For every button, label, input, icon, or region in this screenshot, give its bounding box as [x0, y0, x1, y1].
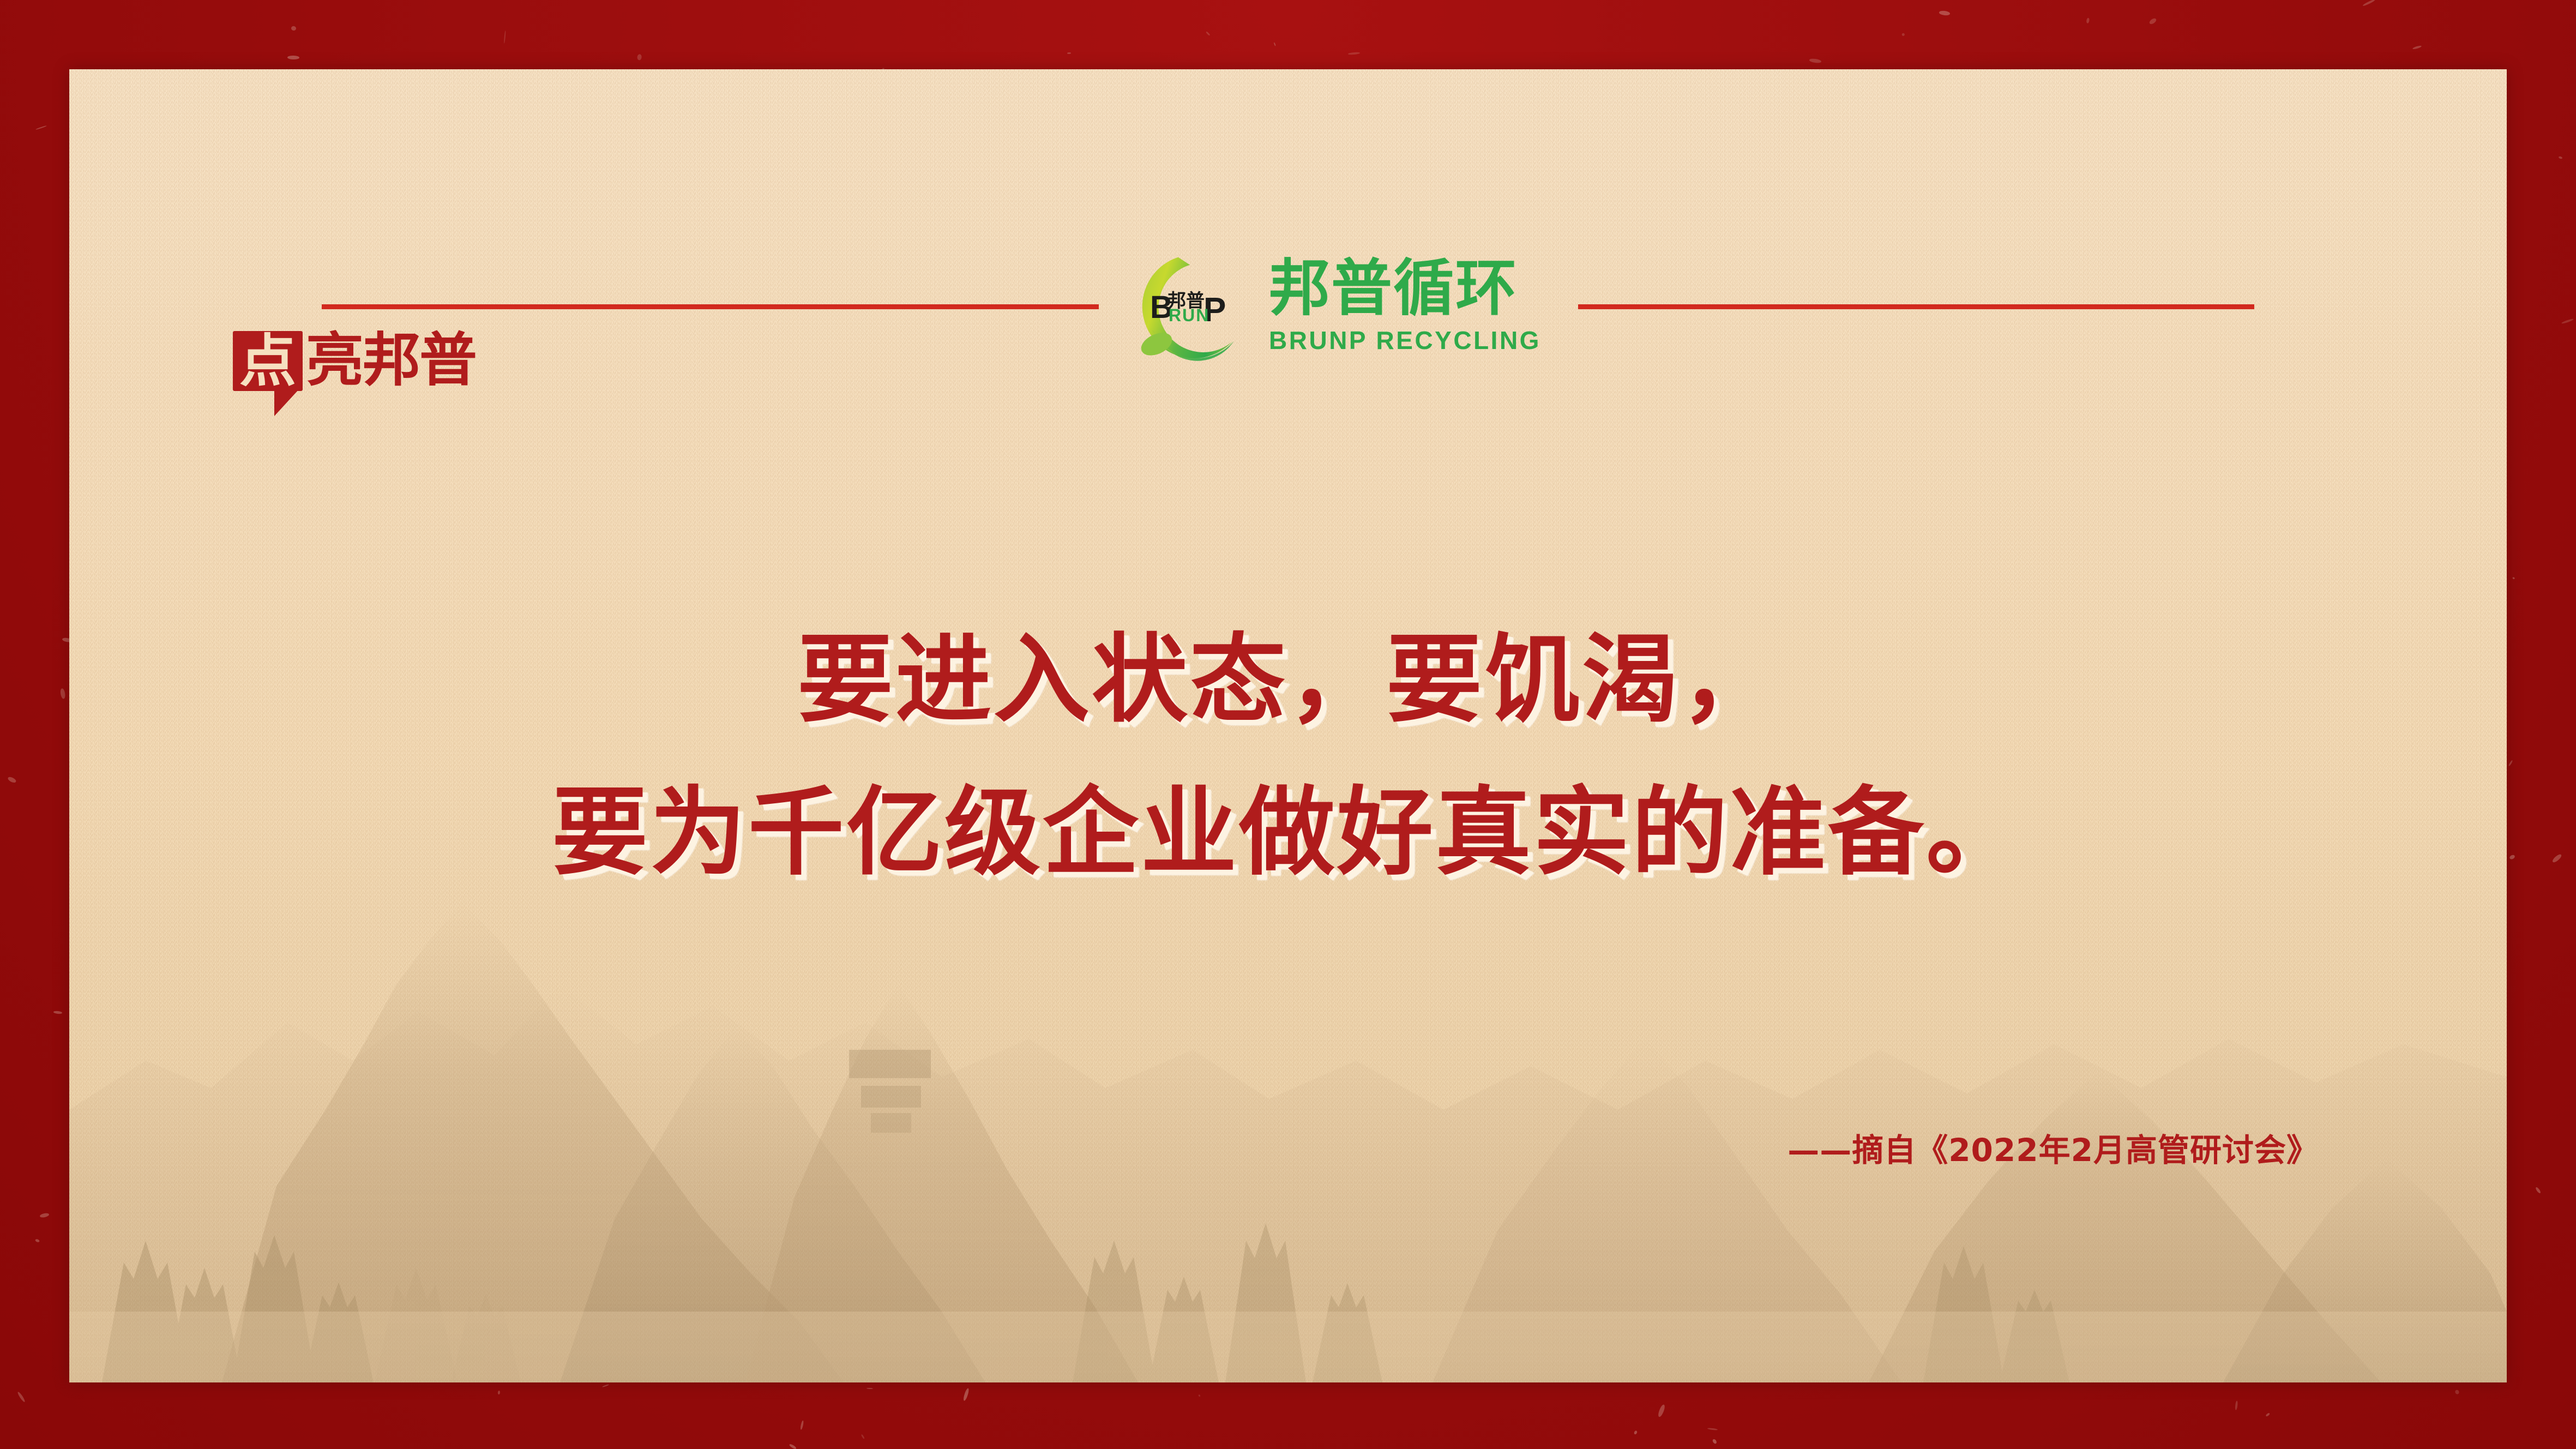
badge-label: 亮邦普 [306, 331, 476, 390]
paper-speckle [2235, 1400, 2238, 1410]
paper-speckle [1901, 33, 1905, 37]
header-rule-left [322, 304, 1099, 309]
paper-speckle [1206, 31, 1211, 35]
paper-speckle [1712, 1439, 1717, 1444]
header-rule-right [1578, 304, 2254, 309]
paper-speckle [1809, 58, 1822, 63]
quote-line-1: 要进入状态，要饥渴， [69, 604, 2507, 756]
paper-speckle [497, 1391, 499, 1394]
paper-speckle [39, 1212, 49, 1218]
speech-bubble-tail [274, 389, 299, 416]
paper-speckle [1067, 52, 1071, 54]
quote-attribution: ——摘自《2022年2月高管研讨会》 [1787, 1125, 2319, 1170]
paper-speckle [7, 776, 17, 784]
paper-speckle [287, 56, 299, 60]
paper-speckle [1707, 1428, 1717, 1431]
brand-wordmark: 邦普循环 BRUNP RECYCLING [1269, 258, 1541, 355]
paper-speckle [2535, 1187, 2542, 1194]
paper-speckle [866, 1388, 873, 1390]
paper-speckle [2148, 17, 2157, 25]
paper-speckle [53, 1011, 63, 1015]
brand-name-cn: 邦普循环 [1269, 258, 1518, 319]
paper-speckle [2559, 156, 2563, 159]
paper-speckle [2086, 17, 2090, 23]
paper-speckle [2265, 1412, 2270, 1417]
paper-speckle [35, 1238, 40, 1243]
poster-canvas: B P 邦普 RUN 邦普循环 BRUNP RECYCLING 点 [0, 0, 2576, 1449]
brunp-brush-circle-logo: B P 邦普 RUN [1136, 248, 1253, 365]
paper-speckle [2454, 1390, 2460, 1395]
paper-speckle [60, 688, 65, 699]
paper-speckle [2561, 318, 2574, 324]
paper-speckle [17, 1391, 26, 1403]
speech-bubble-icon: 点 [233, 331, 303, 391]
content-panel: B P 邦普 RUN 邦普循环 BRUNP RECYCLING 点 [69, 69, 2507, 1382]
paper-speckle [1634, 1430, 1638, 1435]
badge-bubble-glyph: 点 [233, 331, 303, 391]
paper-speckle [291, 26, 297, 31]
paper-speckle [2512, 576, 2515, 579]
brand-name-en: BRUNP RECYCLING [1269, 326, 1541, 355]
paper-speckle [602, 1384, 609, 1387]
section-badge: 点 亮邦普 [233, 331, 476, 391]
paper-speckle [1657, 1404, 1666, 1417]
paper-speckle [1273, 42, 1276, 46]
paper-speckle [36, 125, 47, 130]
paper-speckle [1198, 1394, 1201, 1397]
svg-text:RUN: RUN [1169, 305, 1209, 325]
paper-speckle [962, 1388, 970, 1402]
paper-speckle [800, 1420, 804, 1430]
paper-speckle [503, 31, 505, 44]
paper-speckle [2509, 854, 2515, 860]
paper-speckle [2362, 0, 2375, 7]
quote-line-2: 要为千亿级企业做好真实的准备。 [69, 756, 2507, 909]
paper-speckle [2551, 853, 2562, 864]
paper-speckle [2412, 45, 2421, 50]
paper-speckle [2508, 760, 2513, 767]
quote-block: 要进入状态，要饥渴， 要为千亿级企业做好真实的准备。 [69, 604, 2507, 909]
paper-speckle [1348, 52, 1361, 55]
paper-speckle [861, 1434, 865, 1439]
paper-speckle [637, 54, 642, 61]
paper-speckle [1939, 10, 1950, 16]
brand-logo[interactable]: B P 邦普 RUN 邦普循环 BRUNP RECYCLING [1136, 248, 1541, 365]
paper-speckle [789, 1443, 796, 1449]
